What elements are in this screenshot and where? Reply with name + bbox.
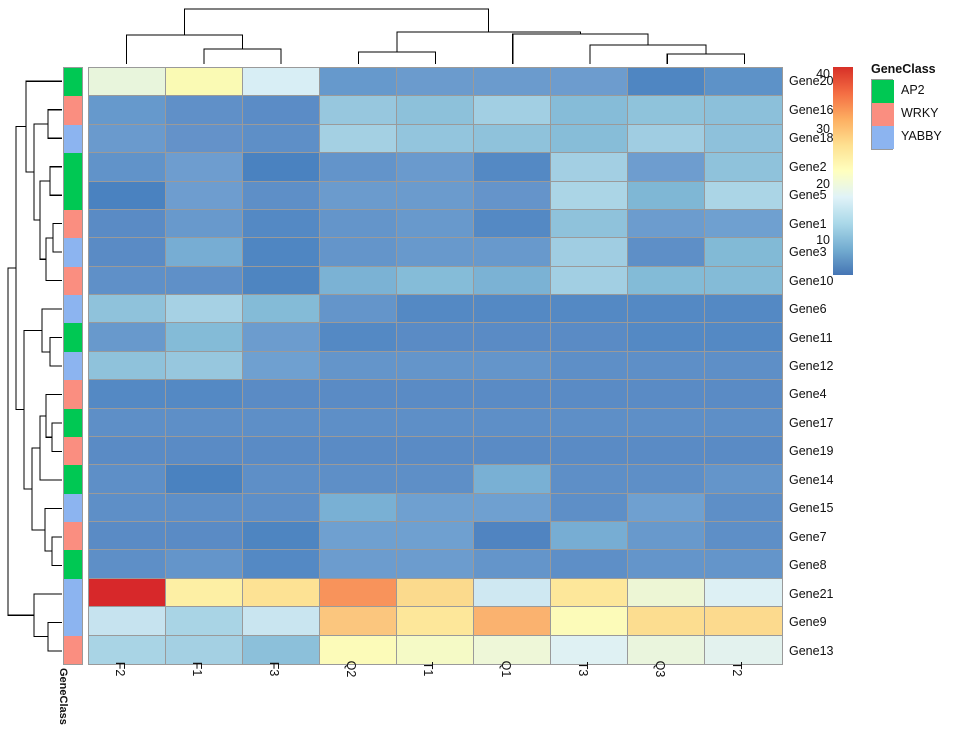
heatmap-cell: [89, 210, 166, 238]
row-annotation-cell: [64, 352, 82, 380]
heatmap-cell: [551, 323, 628, 351]
heatmap-cell: [397, 125, 474, 153]
heatmap-cell: [474, 295, 551, 323]
heatmap-cell: [320, 494, 397, 522]
heatmap-cell: [243, 437, 320, 465]
heatmap-cell: [320, 68, 397, 96]
row-label: Gene14: [787, 466, 882, 494]
heatmap-cell: [166, 295, 243, 323]
heatmap-cell: [397, 550, 474, 578]
column-label: T1: [397, 667, 474, 737]
heatmap-cell: [89, 68, 166, 96]
heatmap-cell: [474, 68, 551, 96]
heatmap-cell: [320, 437, 397, 465]
heatmap-cell: [397, 238, 474, 266]
heatmap-cell: [551, 607, 628, 635]
column-label: F3: [242, 667, 319, 737]
heatmap-cell: [705, 636, 782, 664]
legend-label: AP2: [901, 79, 955, 102]
heatmap-cell: [166, 409, 243, 437]
heatmap-cell: [166, 437, 243, 465]
heatmap-cell: [705, 522, 782, 550]
column-label-text: T3: [576, 662, 590, 677]
heatmap-cell: [705, 125, 782, 153]
heatmap-cell: [166, 550, 243, 578]
heatmap-cell: [551, 494, 628, 522]
heatmap-cell: [320, 409, 397, 437]
column-label-text: T1: [421, 662, 435, 677]
column-dendrogram: [88, 4, 783, 64]
heatmap-cell: [243, 380, 320, 408]
heatmap-cell: [474, 267, 551, 295]
heatmap-cell: [243, 323, 320, 351]
column-label: F2: [88, 667, 165, 737]
row-label: Gene12: [787, 352, 882, 380]
heatmap-cell: [166, 465, 243, 493]
heatmap-cell: [320, 380, 397, 408]
heatmap-cell: [397, 210, 474, 238]
column-label-text: Q2: [344, 661, 358, 678]
row-label: Gene6: [787, 295, 882, 323]
heatmap-cell: [320, 465, 397, 493]
heatmap-cell: [551, 238, 628, 266]
heatmap-cell: [397, 465, 474, 493]
row-annotation-title: GeneClass: [54, 668, 72, 738]
heatmap-cell: [474, 153, 551, 181]
heatmap-cell: [474, 522, 551, 550]
heatmap-cell: [397, 636, 474, 664]
heatmap-cell: [166, 267, 243, 295]
column-label-text: Q3: [653, 661, 667, 678]
heatmap-cell: [397, 380, 474, 408]
row-annotation-cell: [64, 437, 82, 465]
heatmap-cell: [397, 267, 474, 295]
heatmap-cell: [243, 607, 320, 635]
heatmap-cell: [89, 323, 166, 351]
row-annotation-cell: [64, 550, 82, 578]
column-label: F1: [165, 667, 242, 737]
heatmap-cell: [320, 125, 397, 153]
column-labels: F2F1F3Q2T1Q1T3Q3T2: [88, 667, 783, 737]
row-annotation-cell: [64, 68, 82, 96]
heatmap-cell: [474, 437, 551, 465]
heatmap-cell: [628, 295, 705, 323]
heatmap-cell: [551, 352, 628, 380]
column-label-text: T2: [730, 662, 744, 677]
column-label: Q3: [629, 667, 706, 737]
row-annotation-cell: [64, 323, 82, 351]
heatmap-cell: [243, 352, 320, 380]
column-label: T3: [551, 667, 628, 737]
heatmap-cell: [243, 579, 320, 607]
heatmap-cell: [628, 494, 705, 522]
legend-title: GeneClass: [871, 62, 955, 76]
heatmap-cell: [320, 295, 397, 323]
heatmap-cell: [166, 68, 243, 96]
row-annotation-grid: [63, 67, 83, 665]
column-label-text: Q1: [499, 661, 513, 678]
heatmap-cell: [474, 210, 551, 238]
row-label: Gene9: [787, 608, 882, 636]
heatmap-cell: [705, 607, 782, 635]
heatmap-cell: [628, 68, 705, 96]
row-annotation-cell: [64, 182, 82, 210]
heatmap-cell: [551, 295, 628, 323]
row-label: Gene17: [787, 409, 882, 437]
row-label: Gene13: [787, 637, 882, 665]
row-label: Gene15: [787, 494, 882, 522]
heatmap-grid: [88, 67, 783, 665]
heatmap-cell: [628, 550, 705, 578]
heatmap-cell: [705, 465, 782, 493]
row-annotation-cell: [64, 465, 82, 493]
heatmap-cell: [89, 238, 166, 266]
heatmap-cell: [551, 437, 628, 465]
heatmap-cell: [320, 153, 397, 181]
heatmap-cell: [89, 522, 166, 550]
row-annotation-cell: [64, 409, 82, 437]
heatmap-cell: [243, 153, 320, 181]
column-label: Q1: [474, 667, 551, 737]
row-annotation-cell: [64, 210, 82, 238]
heatmap-cell: [166, 238, 243, 266]
heatmap-cell: [320, 267, 397, 295]
heatmap-cell: [474, 465, 551, 493]
heatmap-cell: [320, 210, 397, 238]
heatmap-cell: [89, 153, 166, 181]
heatmap-cell: [551, 68, 628, 96]
heatmap-cell: [89, 409, 166, 437]
heatmap-cell: [628, 352, 705, 380]
heatmap-cell: [705, 380, 782, 408]
heatmap-cell: [705, 182, 782, 210]
heatmap-cell: [166, 153, 243, 181]
heatmap-panel: [88, 67, 783, 665]
heatmap-cell: [243, 550, 320, 578]
heatmap-cell: [89, 96, 166, 124]
heatmap-cell: [551, 125, 628, 153]
row-annotation-title-label: GeneClass: [57, 668, 69, 725]
heatmap-cell: [628, 210, 705, 238]
geneclass-legend: GeneClass AP2WRKYYABBY: [871, 62, 955, 148]
legend-label: YABBY: [901, 125, 955, 148]
heatmap-cell: [166, 607, 243, 635]
heatmap-cell: [551, 409, 628, 437]
column-label-text: F1: [190, 662, 204, 677]
heatmap-cell: [705, 267, 782, 295]
heatmap-cell: [628, 465, 705, 493]
heatmap-cell: [551, 522, 628, 550]
heatmap-cell: [166, 323, 243, 351]
heatmap-cell: [89, 125, 166, 153]
heatmap-cell: [628, 125, 705, 153]
heatmap-cell: [705, 352, 782, 380]
heatmap-cell: [89, 380, 166, 408]
heatmap-cell: [320, 238, 397, 266]
heatmap-cell: [243, 465, 320, 493]
row-annotation-cell: [64, 125, 82, 153]
heatmap-cell: [89, 295, 166, 323]
heatmap-cell: [397, 579, 474, 607]
column-label: Q2: [320, 667, 397, 737]
heatmap-cell: [628, 607, 705, 635]
heatmap-cell: [551, 153, 628, 181]
heatmap-cell: [89, 465, 166, 493]
heatmap-cell: [166, 494, 243, 522]
heatmap-cell: [705, 238, 782, 266]
heatmap-cell: [320, 607, 397, 635]
heatmap-cell: [397, 68, 474, 96]
heatmap-cell: [89, 267, 166, 295]
heatmap-cell: [628, 409, 705, 437]
row-annotation-cell: [64, 380, 82, 408]
colorbar: [833, 67, 853, 275]
heatmap-cell: [551, 96, 628, 124]
legend-body: AP2WRKYYABBY: [871, 79, 955, 148]
heatmap-cell: [474, 238, 551, 266]
heatmap-cell: [243, 125, 320, 153]
colorbar-tick-label: 20: [816, 177, 830, 191]
heatmap-cell: [243, 68, 320, 96]
heatmap-cell: [628, 437, 705, 465]
row-annotation-cell: [64, 267, 82, 295]
heatmap-cell: [551, 550, 628, 578]
heatmap-cell: [551, 579, 628, 607]
heatmap-cell: [243, 409, 320, 437]
heatmap-cell: [628, 522, 705, 550]
heatmap-cell: [320, 636, 397, 664]
column-label-text: F2: [113, 662, 127, 677]
colorbar-tick-label: 30: [816, 122, 830, 136]
heatmap-cell: [397, 295, 474, 323]
heatmap-cell: [397, 153, 474, 181]
heatmap-cell: [243, 295, 320, 323]
column-label: T2: [706, 667, 783, 737]
heatmap-cell: [705, 579, 782, 607]
row-annotation-cell: [64, 295, 82, 323]
heatmap-cell: [397, 323, 474, 351]
heatmap-cell: [551, 182, 628, 210]
heatmap-cell: [397, 409, 474, 437]
row-dendrogram: [4, 67, 62, 665]
heatmap-cell: [320, 522, 397, 550]
heatmap-cell: [89, 607, 166, 635]
heatmap-cell: [705, 409, 782, 437]
heatmap-cell: [320, 352, 397, 380]
heatmap-cell: [320, 579, 397, 607]
heatmap-cell: [397, 522, 474, 550]
legend-label-column: AP2WRKYYABBY: [901, 79, 955, 148]
heatmap-cell: [705, 153, 782, 181]
heatmap-cell: [89, 352, 166, 380]
heatmap-cell: [166, 522, 243, 550]
row-label: Gene21: [787, 580, 882, 608]
legend-swatch: [872, 80, 894, 103]
heatmap-cell: [474, 352, 551, 380]
heatmap-cell: [320, 96, 397, 124]
heatmap-cell: [551, 267, 628, 295]
column-label-text: F3: [267, 662, 281, 677]
heatmap-cell: [397, 182, 474, 210]
heatmap-cell: [628, 153, 705, 181]
row-annotation-cell: [64, 494, 82, 522]
heatmap-cell: [705, 96, 782, 124]
heatmap-cell: [705, 437, 782, 465]
heatmap-cell: [705, 550, 782, 578]
heatmap-cell: [474, 125, 551, 153]
heatmap-cell: [166, 182, 243, 210]
row-label: Gene7: [787, 523, 882, 551]
heatmap-cell: [705, 295, 782, 323]
legend-swatch-column: [871, 79, 893, 150]
row-label: Gene8: [787, 551, 882, 579]
row-annotation-cell: [64, 607, 82, 635]
heatmap-cell: [89, 182, 166, 210]
heatmap-cell: [474, 96, 551, 124]
heatmap-cell: [89, 636, 166, 664]
colorbar-tick-label: 40: [816, 67, 830, 81]
heatmap-cell: [397, 96, 474, 124]
heatmap-cell: [166, 579, 243, 607]
heatmap-cell: [243, 522, 320, 550]
row-label: Gene11: [787, 323, 882, 351]
heatmap-cell: [166, 636, 243, 664]
heatmap-cell: [551, 636, 628, 664]
heatmap-cell: [474, 550, 551, 578]
row-label: Gene4: [787, 380, 882, 408]
heatmap-cell: [628, 96, 705, 124]
heatmap-cell: [166, 352, 243, 380]
heatmap-cell: [320, 182, 397, 210]
heatmap-cell: [397, 607, 474, 635]
legend-swatch: [872, 103, 894, 126]
row-label: Gene19: [787, 437, 882, 465]
heatmap-cell: [397, 437, 474, 465]
heatmap-cell: [166, 96, 243, 124]
heatmap-cell: [89, 437, 166, 465]
heatmap-cell: [474, 323, 551, 351]
heatmap-cell: [243, 238, 320, 266]
heatmap-cell: [474, 380, 551, 408]
row-annotation-cell: [64, 522, 82, 550]
row-annotation-cell: [64, 636, 82, 664]
heatmap-cell: [166, 380, 243, 408]
heatmap-cell: [551, 380, 628, 408]
heatmap-cell: [474, 409, 551, 437]
row-annotation-cell: [64, 96, 82, 124]
heatmap-cell: [397, 494, 474, 522]
heatmap-cell: [474, 494, 551, 522]
row-annotation-cell: [64, 579, 82, 607]
row-annotation-strip: [63, 67, 83, 665]
heatmap-cell: [243, 267, 320, 295]
row-annotation-cell: [64, 238, 82, 266]
colorbar-ticks: 40302010: [806, 60, 830, 290]
heatmap-cell: [628, 238, 705, 266]
heatmap-cell: [89, 494, 166, 522]
heatmap-figure: GeneClass Gene20Gene16Gene18Gene2Gene5Ge…: [0, 0, 955, 739]
heatmap-cell: [397, 352, 474, 380]
heatmap-cell: [166, 125, 243, 153]
heatmap-cell: [474, 607, 551, 635]
legend-label: WRKY: [901, 102, 955, 125]
heatmap-cell: [705, 68, 782, 96]
heatmap-cell: [474, 182, 551, 210]
heatmap-cell: [243, 636, 320, 664]
heatmap-cell: [243, 96, 320, 124]
row-annotation-cell: [64, 153, 82, 181]
heatmap-cell: [705, 323, 782, 351]
heatmap-cell: [243, 210, 320, 238]
heatmap-cell: [705, 210, 782, 238]
heatmap-cell: [551, 210, 628, 238]
heatmap-cell: [474, 579, 551, 607]
heatmap-cell: [320, 323, 397, 351]
heatmap-cell: [705, 494, 782, 522]
heatmap-cell: [320, 550, 397, 578]
heatmap-cell: [628, 579, 705, 607]
heatmap-cell: [243, 182, 320, 210]
heatmap-cell: [551, 465, 628, 493]
heatmap-cell: [628, 323, 705, 351]
heatmap-cell: [89, 579, 166, 607]
heatmap-cell: [89, 550, 166, 578]
heatmap-cell: [166, 210, 243, 238]
colorbar-tick-label: 10: [816, 233, 830, 247]
heatmap-cell: [243, 494, 320, 522]
legend-swatch: [872, 126, 894, 149]
heatmap-cell: [628, 267, 705, 295]
heatmap-cell: [628, 380, 705, 408]
heatmap-cell: [628, 182, 705, 210]
